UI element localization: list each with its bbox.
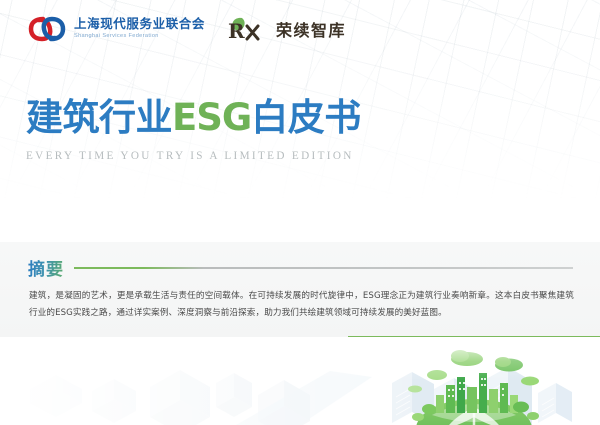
- logo-bar: 上海现代服务业联合会 Shanghai Services Federation …: [28, 16, 346, 42]
- title-part-whitepaper: 白皮书: [251, 96, 361, 139]
- page-subtitle: EVERY TIME YOU TRY IS A LIMITED EDITION: [26, 150, 361, 162]
- abstract-heading-row: 摘要: [28, 255, 573, 280]
- footer-illustration-band: [0, 337, 600, 425]
- abstract-body-text: 建筑，是凝固的艺术，更是承载生活与责任的空间载体。在可持续发展的时代旋律中，ES…: [29, 288, 574, 322]
- whitepaper-cover-page: 上海现代服务业联合会 Shanghai Services Federation …: [0, 0, 600, 425]
- logo-rongxu-zhiku[interactable]: R 荣续智库: [227, 16, 346, 42]
- svg-text:R: R: [228, 19, 245, 42]
- logo-shanghai-services-federation[interactable]: 上海现代服务业联合会 Shanghai Services Federation: [28, 16, 205, 42]
- logo-name-cn: 上海现代服务业联合会: [74, 18, 205, 31]
- logo-name-cn-rx: 荣续智库: [276, 17, 346, 41]
- logo-name-en: Shanghai Services Federation: [74, 34, 205, 40]
- title-part-esg: ESG: [172, 96, 251, 139]
- page-title: 建筑行业ESG白皮书: [26, 99, 361, 138]
- rx-leaf-icon: R: [227, 16, 267, 42]
- infinity-knot-icon: [28, 16, 66, 42]
- hero-block: 建筑行业ESG白皮书 EVERY TIME YOU TRY IS A LIMIT…: [26, 99, 361, 162]
- title-part-industry: 建筑行业: [26, 96, 172, 139]
- abstract-heading: 摘要: [28, 255, 64, 280]
- eco-city-globe-illustration: [0, 337, 600, 425]
- abstract-heading-rule: [74, 267, 573, 269]
- logo-text-wrap: 上海现代服务业联合会 Shanghai Services Federation: [74, 18, 205, 39]
